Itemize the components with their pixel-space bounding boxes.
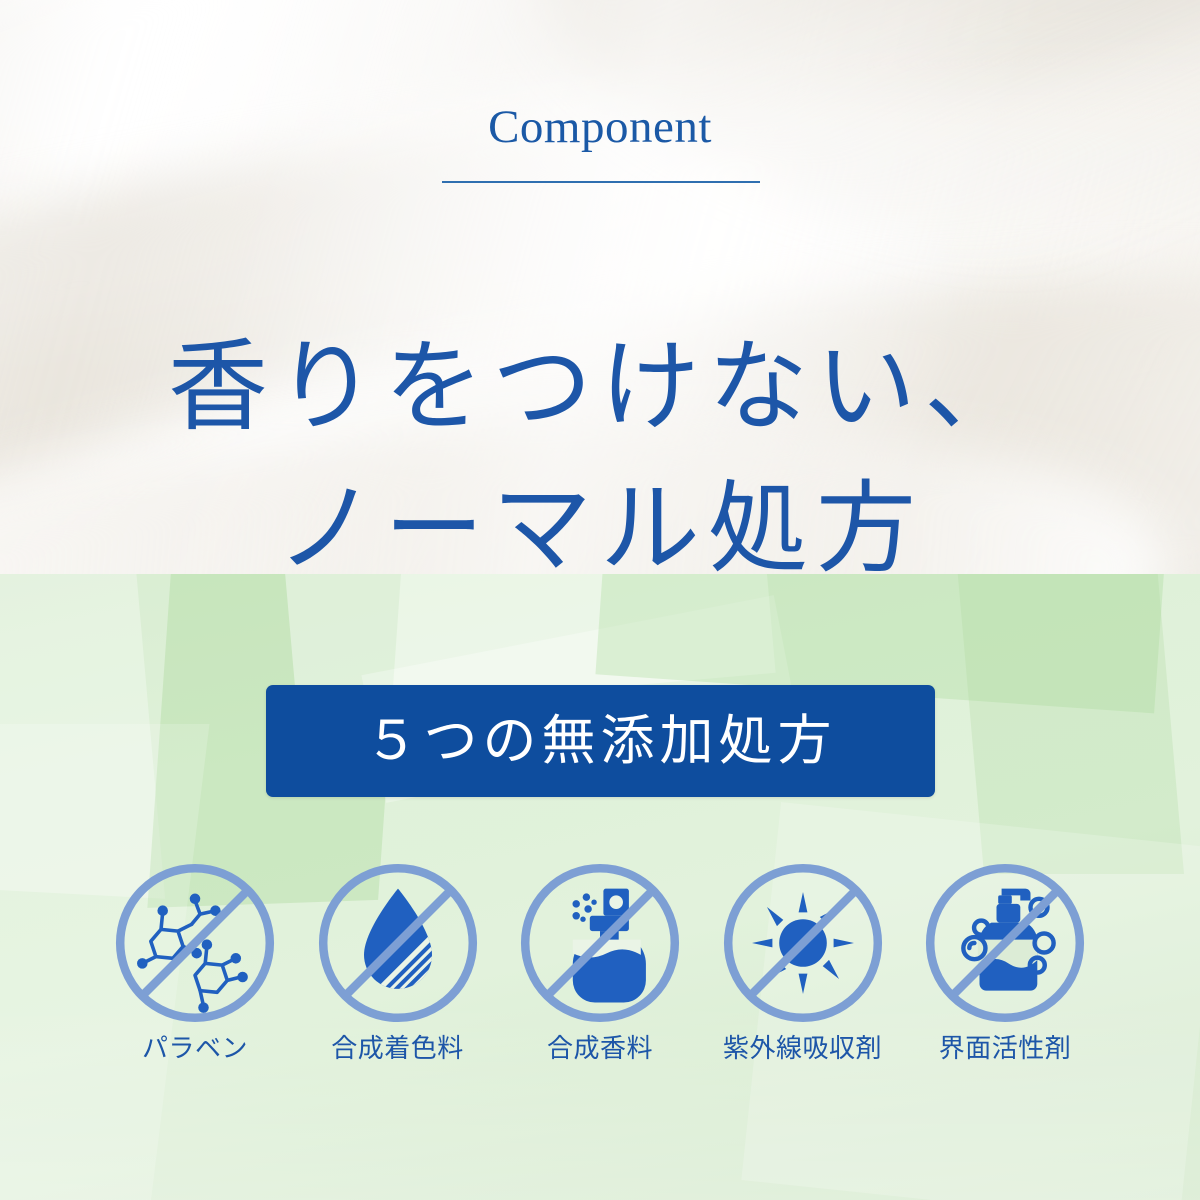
additive-free-section: ５つの無添加処方 [0, 574, 1200, 1200]
additive-free-banner: ５つの無添加処方 [266, 685, 935, 797]
hero-section: Component 香りをつけない、 ノーマル処方 [0, 0, 1200, 574]
icon-label: 合成香料 [547, 1034, 653, 1063]
background-facet [956, 574, 1184, 874]
icon-label: 界面活性剤 [939, 1034, 1072, 1063]
icon-item-surfactant: 界面活性剤 [905, 858, 1105, 1063]
icon-item-paraben: パラベン [95, 858, 295, 1063]
component-page: Component 香りをつけない、 ノーマル処方 ５つの無添加処方 [0, 0, 1200, 1200]
perfume-bottle-icon [515, 858, 685, 1028]
icon-item-fragrance: 合成香料 [500, 858, 700, 1063]
eyebrow-divider [442, 181, 760, 183]
water-drop-icon [313, 858, 483, 1028]
banner-label: ５つの無添加処方 [365, 714, 837, 768]
icon-row: パラベン [95, 858, 1105, 1063]
background-facet [0, 574, 165, 899]
soap-dispenser-icon [920, 858, 1090, 1028]
page-title: 香りをつけない、 ノーマル処方 [0, 317, 1200, 574]
icon-label: パラベン [142, 1034, 248, 1063]
icon-label: 紫外線吸収剤 [723, 1034, 882, 1063]
headline-line-2: ノーマル処方 [0, 459, 1200, 574]
molecule-icon [110, 858, 280, 1028]
sun-icon [718, 858, 888, 1028]
eyebrow: Component [0, 104, 1200, 151]
headline-line-1: 香りをつけない、 [0, 317, 1200, 459]
icon-label: 合成着色料 [331, 1034, 464, 1063]
icon-item-uv-absorber: 紫外線吸収剤 [703, 858, 903, 1063]
eyebrow-label: Component [488, 104, 712, 151]
icon-item-colorant: 合成着色料 [298, 858, 498, 1063]
